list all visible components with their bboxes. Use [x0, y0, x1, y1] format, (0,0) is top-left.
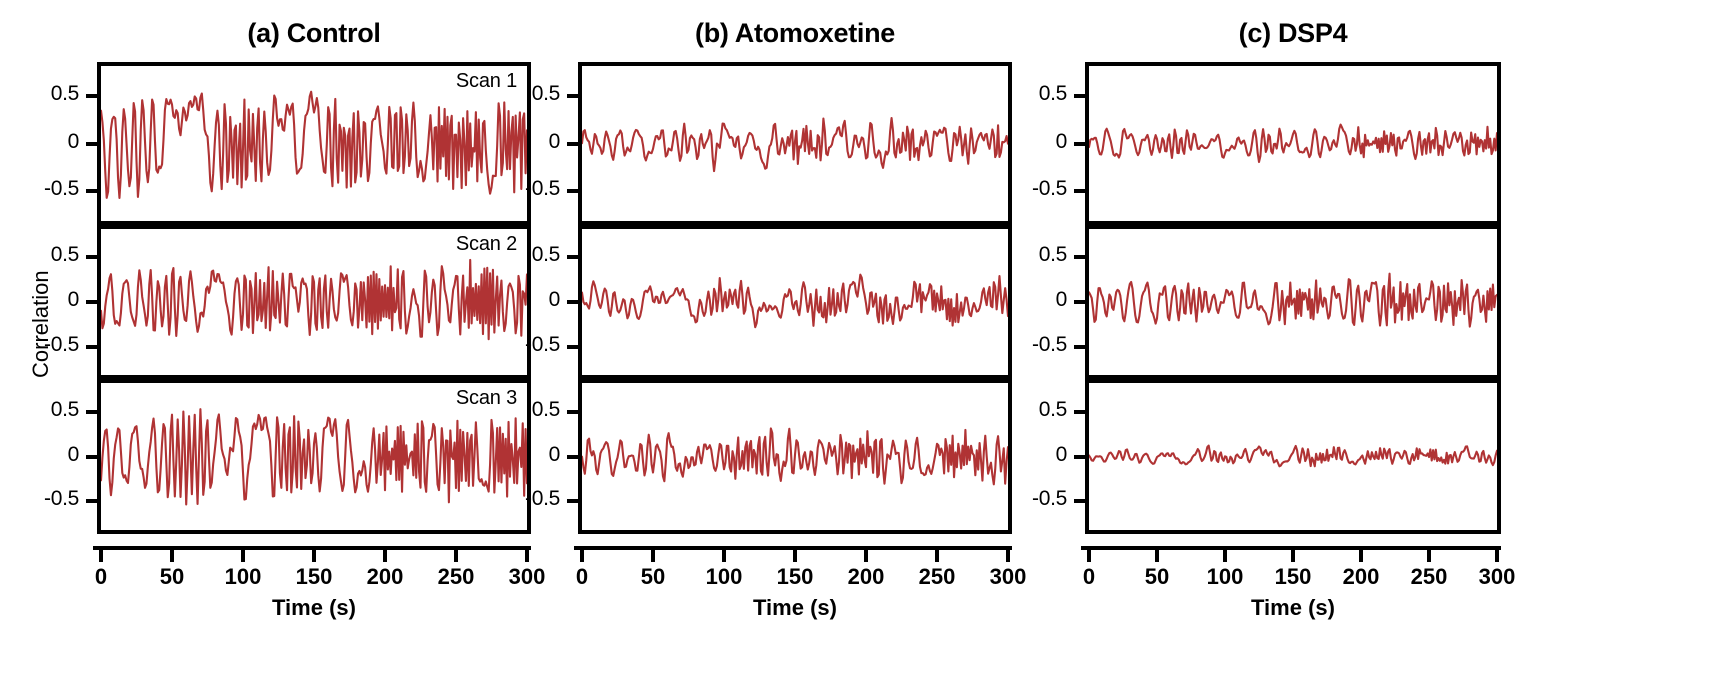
- plot-control-scan2: Scan 2: [97, 225, 531, 379]
- y-tick-mark: [86, 255, 97, 259]
- y-tick-mark: [86, 142, 97, 146]
- plot-control-scan1: Scan 1: [97, 62, 531, 225]
- x-tick-mark: [454, 550, 458, 562]
- y-tick-label: -0.5: [995, 487, 1067, 511]
- x-tick-mark: [1427, 550, 1431, 562]
- x-axis-title-atomoxetine: Time (s): [578, 595, 1012, 621]
- figure-root: (a) ControlScan 10.50-0.5Scan 20.50-0.5S…: [0, 0, 1721, 691]
- y-tick-label: -0.5: [995, 333, 1067, 357]
- y-tick-label: 0: [995, 443, 1067, 467]
- y-tick-label: 0: [995, 288, 1067, 312]
- y-tick-mark: [86, 410, 97, 414]
- y-tick-label: -0.5: [488, 177, 560, 201]
- y-tick-mark: [86, 345, 97, 349]
- x-tick-mark: [1495, 550, 1499, 562]
- plot-atomoxetine-scan1: [578, 62, 1012, 225]
- y-tick-label: 0.5: [488, 243, 560, 267]
- y-tick-mark: [1074, 345, 1085, 349]
- x-tick-mark: [651, 550, 655, 562]
- x-tick-label: 200: [826, 564, 906, 590]
- y-tick-label: 0: [488, 130, 560, 154]
- y-tick-label: 0: [7, 130, 79, 154]
- x-tick-label: 50: [132, 564, 212, 590]
- panel-title-atomoxetine: (b) Atomoxetine: [578, 18, 1012, 49]
- x-axis-title-control: Time (s): [97, 595, 531, 621]
- x-tick-mark: [1223, 550, 1227, 562]
- y-tick-label: -0.5: [7, 487, 79, 511]
- x-tick-mark: [864, 550, 868, 562]
- plot-atomoxetine-scan3: [578, 379, 1012, 534]
- y-tick-label: -0.5: [488, 333, 560, 357]
- y-tick-mark: [1074, 255, 1085, 259]
- x-tick-label: 100: [684, 564, 764, 590]
- x-tick-mark: [935, 550, 939, 562]
- y-axis-title: Correlation: [28, 270, 54, 378]
- x-tick-mark: [1006, 550, 1010, 562]
- y-tick-mark: [567, 455, 578, 459]
- y-tick-mark: [86, 94, 97, 98]
- y-tick-mark: [567, 410, 578, 414]
- x-tick-mark: [1155, 550, 1159, 562]
- y-tick-label: 0: [7, 443, 79, 467]
- y-tick-mark: [567, 94, 578, 98]
- y-tick-label: 0: [488, 288, 560, 312]
- y-tick-mark: [86, 300, 97, 304]
- y-tick-mark: [567, 255, 578, 259]
- y-tick-mark: [86, 499, 97, 503]
- y-tick-label: 0.5: [488, 398, 560, 422]
- y-tick-label: 0.5: [995, 243, 1067, 267]
- y-tick-label: -0.5: [995, 177, 1067, 201]
- x-tick-label: 0: [61, 564, 141, 590]
- waveform-dsp4-scan3: [1089, 446, 1497, 467]
- waveform-dsp4-scan1: [1089, 125, 1497, 162]
- plot-atomoxetine-scan2: [578, 225, 1012, 379]
- waveform-control-scan3: [101, 409, 527, 504]
- y-tick-mark: [1074, 300, 1085, 304]
- x-tick-label: 200: [345, 564, 425, 590]
- x-tick-mark: [525, 550, 529, 562]
- y-tick-label: -0.5: [7, 177, 79, 201]
- y-tick-mark: [86, 455, 97, 459]
- waveform-control-scan2: [101, 260, 527, 339]
- y-tick-mark: [1074, 499, 1085, 503]
- y-tick-mark: [1074, 455, 1085, 459]
- x-tick-label: 250: [897, 564, 977, 590]
- waveform-control-scan1: [101, 92, 527, 198]
- x-tick-label: 150: [274, 564, 354, 590]
- x-tick-mark: [241, 550, 245, 562]
- y-tick-mark: [1074, 94, 1085, 98]
- x-tick-label: 50: [613, 564, 693, 590]
- y-tick-label: 0.5: [995, 82, 1067, 106]
- x-tick-label: 100: [203, 564, 283, 590]
- x-tick-mark: [383, 550, 387, 562]
- x-tick-mark: [170, 550, 174, 562]
- y-tick-mark: [86, 189, 97, 193]
- waveform-dsp4-scan2: [1089, 274, 1497, 327]
- waveform-atomoxetine-scan2: [582, 275, 1008, 328]
- x-tick-label: 300: [968, 564, 1048, 590]
- x-axis-title-dsp4: Time (s): [1085, 595, 1501, 621]
- y-tick-label: 0.5: [7, 243, 79, 267]
- y-tick-mark: [567, 300, 578, 304]
- y-tick-label: 0.5: [995, 398, 1067, 422]
- y-tick-mark: [1074, 142, 1085, 146]
- plot-control-scan3: Scan 3: [97, 379, 531, 534]
- y-tick-mark: [1074, 189, 1085, 193]
- y-tick-mark: [1074, 410, 1085, 414]
- panel-title-control: (a) Control: [97, 18, 531, 49]
- y-tick-label: 0.5: [7, 398, 79, 422]
- x-tick-mark: [312, 550, 316, 562]
- x-tick-mark: [1087, 550, 1091, 562]
- y-tick-label: 0.5: [488, 82, 560, 106]
- y-tick-label: 0.5: [7, 82, 79, 106]
- x-tick-mark: [1359, 550, 1363, 562]
- y-tick-label: 0: [995, 130, 1067, 154]
- plot-dsp4-scan1: [1085, 62, 1501, 225]
- x-tick-mark: [793, 550, 797, 562]
- x-tick-label: 150: [755, 564, 835, 590]
- x-tick-label: 300: [1457, 564, 1537, 590]
- x-tick-mark: [1291, 550, 1295, 562]
- panel-title-dsp4: (c) DSP4: [1085, 18, 1501, 49]
- y-tick-label: 0: [488, 443, 560, 467]
- y-tick-mark: [567, 345, 578, 349]
- x-tick-label: 250: [416, 564, 496, 590]
- x-tick-mark: [722, 550, 726, 562]
- y-tick-label: -0.5: [488, 487, 560, 511]
- waveform-atomoxetine-scan1: [582, 118, 1008, 171]
- y-tick-mark: [567, 189, 578, 193]
- y-tick-mark: [567, 499, 578, 503]
- plot-dsp4-scan2: [1085, 225, 1501, 379]
- y-tick-mark: [567, 142, 578, 146]
- plot-dsp4-scan3: [1085, 379, 1501, 534]
- waveform-atomoxetine-scan3: [582, 428, 1008, 484]
- x-tick-mark: [99, 550, 103, 562]
- x-tick-label: 0: [542, 564, 622, 590]
- x-tick-mark: [580, 550, 584, 562]
